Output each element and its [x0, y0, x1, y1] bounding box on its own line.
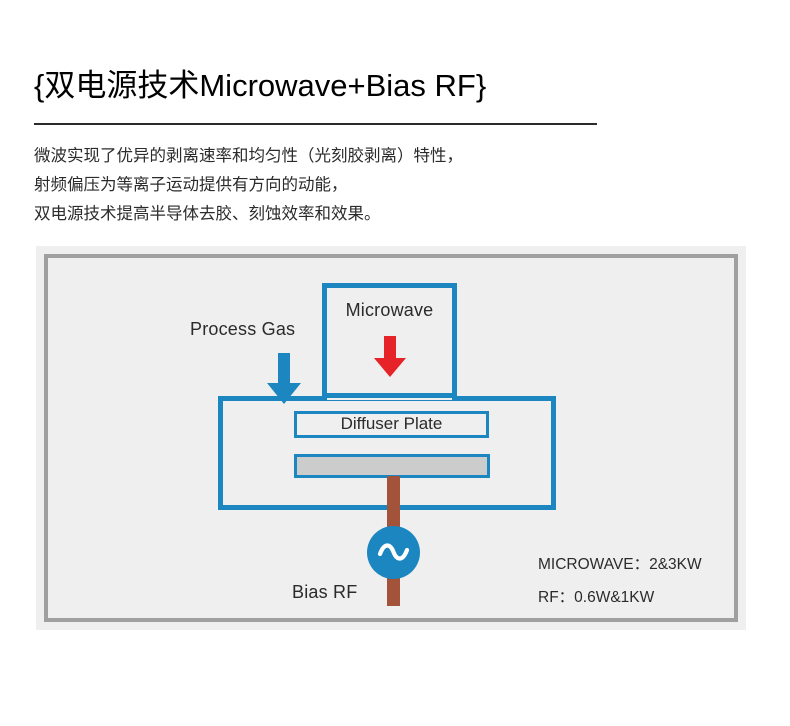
- page-title: {双电源技术Microwave+Bias RF}: [34, 64, 674, 108]
- microwave-down-arrow-icon: [373, 336, 407, 378]
- spec-microwave: MICROWAVE：2&3KW: [538, 548, 702, 581]
- intro-line-2: 射频偏压为等离子运动提供有方向的动能，: [34, 171, 674, 200]
- ac-sine-wave-icon: [367, 526, 420, 579]
- process-gas-label: Process Gas: [190, 319, 295, 340]
- intro-line-1: 微波实现了优异的剥离速率和均匀性（光刻胶剥离）特性，: [34, 142, 674, 171]
- spec-rf: RF：0.6W&1KW: [538, 581, 702, 614]
- spec-list: MICROWAVE：2&3KW RF：0.6W&1KW: [538, 548, 702, 614]
- diffuser-plate-label: Diffuser Plate: [294, 413, 489, 435]
- title-divider: [34, 123, 597, 125]
- microwave-label: Microwave: [322, 300, 457, 321]
- electrode-plate: [294, 454, 490, 478]
- bias-rf-label: Bias RF: [292, 582, 357, 603]
- process-gas-down-arrow-icon: [266, 353, 302, 405]
- intro-paragraph: 微波实现了优异的剥离速率和均匀性（光刻胶剥离）特性， 射频偏压为等离子运动提供有…: [34, 142, 674, 229]
- intro-line-3: 双电源技术提高半导体去胶、刻蚀效率和效果。: [34, 200, 674, 229]
